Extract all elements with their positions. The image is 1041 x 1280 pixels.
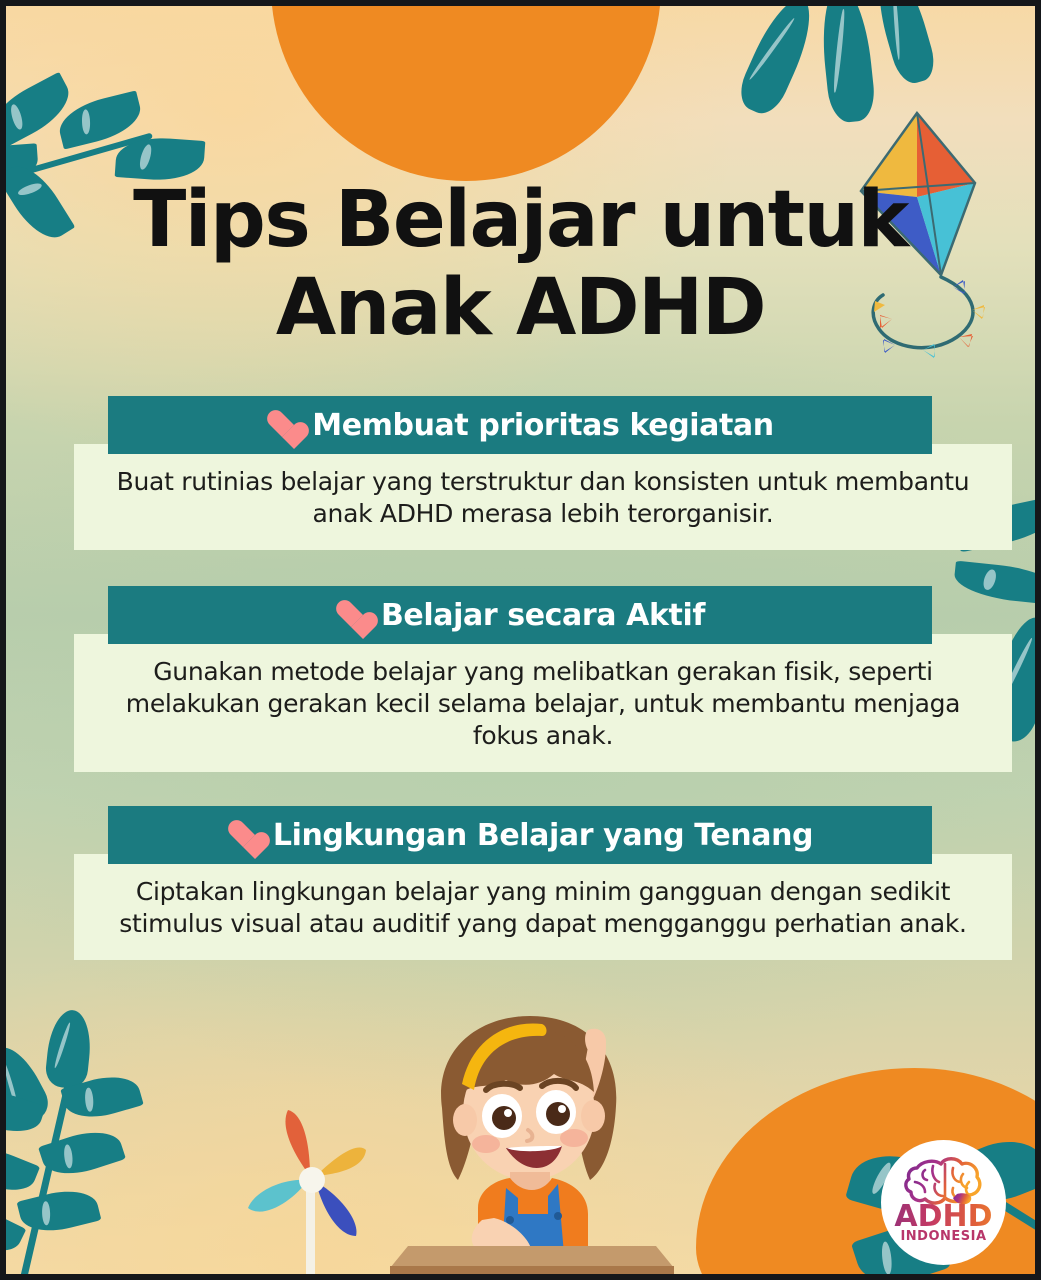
title-line-2: Anak ADHD xyxy=(0,266,1041,350)
logo-country-text: INDONESIA xyxy=(881,1230,1006,1243)
girl-at-desk-illustration xyxy=(382,1008,682,1280)
tip-card-2: Belajar secara Aktif Gunakan metode bela… xyxy=(74,586,964,772)
title-line-1: Tips Belajar untuk xyxy=(0,178,1041,262)
heart-icon xyxy=(266,411,298,440)
tip-card-1-body: Buat rutinias belajar yang terstruktur d… xyxy=(74,444,1012,550)
tip-card-1-header: Membuat prioritas kegiatan xyxy=(108,396,932,454)
logo-badge[interactable]: ADHD INDONESIA xyxy=(881,1140,1006,1265)
tip-card-2-text: Gunakan metode belajar yang melibatkan g… xyxy=(100,656,986,752)
tip-card-2-body: Gunakan metode belajar yang melibatkan g… xyxy=(74,634,1012,772)
tip-card-3-title: Lingkungan Belajar yang Tenang xyxy=(273,818,813,853)
tip-card-2-header: Belajar secara Aktif xyxy=(108,586,932,644)
tip-card-1-text: Buat rutinias belajar yang terstruktur d… xyxy=(100,466,986,530)
tip-card-1-title: Membuat prioritas kegiatan xyxy=(312,408,774,443)
leaf-branch-icon-bottom-left xyxy=(6,1016,216,1274)
leaves-icon-top-right xyxy=(746,6,986,112)
logo-brand-text: ADHD xyxy=(881,1202,1006,1232)
tip-card-3-header: Lingkungan Belajar yang Tenang xyxy=(108,806,932,864)
tip-card-2-title: Belajar secara Aktif xyxy=(381,598,705,633)
heart-icon xyxy=(227,821,259,850)
tip-card-3-body: Ciptakan lingkungan belajar yang minim g… xyxy=(74,854,1012,960)
heart-icon xyxy=(335,601,367,630)
tip-card-3-text: Ciptakan lingkungan belajar yang minim g… xyxy=(100,876,986,940)
infographic-poster: Tips Belajar untuk Anak ADHD Membuat pri… xyxy=(0,0,1041,1280)
tip-card-3: Lingkungan Belajar yang Tenang Ciptakan … xyxy=(74,806,964,960)
pinwheel-icon xyxy=(218,1088,408,1280)
tip-card-1: Membuat prioritas kegiatan Buat rutinias… xyxy=(74,396,964,550)
page-title: Tips Belajar untuk Anak ADHD xyxy=(0,178,1041,350)
